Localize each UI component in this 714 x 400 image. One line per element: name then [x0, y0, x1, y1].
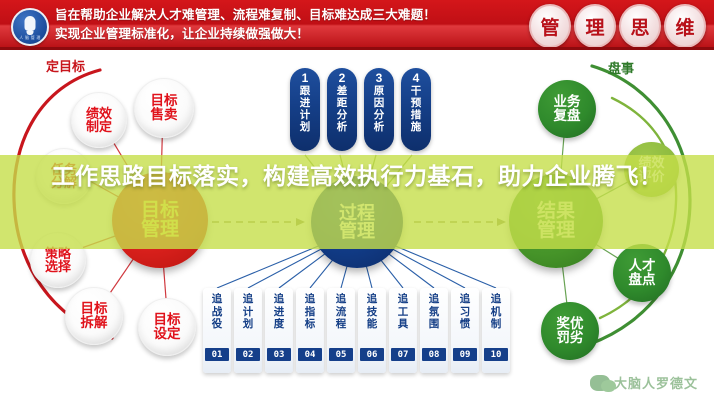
pill-char-1: 原 — [374, 85, 385, 97]
watermark: 大脑人罗德文 — [590, 373, 698, 392]
arrow-head-1 — [296, 218, 305, 226]
card-chase-campaign[interactable]: 追 战 役 01 — [203, 288, 231, 373]
node-performance-evaluation[interactable]: 绩效 评价 — [624, 142, 679, 197]
lightbulb-logo-icon: 人 脑 管 理 — [11, 8, 49, 46]
card-char-3: 程 — [336, 318, 347, 331]
card-char-1: 追 — [336, 293, 347, 306]
pill-char-2: 预 — [411, 97, 422, 109]
node-label-top: 目标 — [151, 94, 178, 108]
card-chase-tools[interactable]: 追 工 具 07 — [389, 288, 417, 373]
node-business-review[interactable]: 业务 复盘 — [538, 80, 596, 138]
card-number: 09 — [453, 348, 477, 361]
node-strategy-choice[interactable]: 策略 选择 — [30, 232, 86, 288]
node-goal-decomposition[interactable]: 目标 拆解 — [65, 287, 123, 345]
card-char-2: 习 — [460, 306, 471, 319]
card-number: 06 — [360, 348, 384, 361]
card-chase-progress[interactable]: 追 进 度 03 — [265, 288, 293, 373]
diagram-area: 定目标 盘事 绩效 制定 目标 售卖 任务 分解 策略 选择 目标 拆解 目标 … — [0, 50, 714, 400]
header-line-2: 实现企业管理标准化，让企业持续做强做大！ — [55, 25, 525, 44]
card-chase-plan[interactable]: 追 计 划 02 — [234, 288, 262, 373]
pill-char-1: 跟 — [300, 85, 311, 97]
node-label-top: 奖优 — [557, 317, 584, 331]
hub-result-management[interactable]: 结果 管理 — [509, 174, 603, 268]
card-char-2: 进 — [274, 306, 285, 319]
pill-number: 4 — [413, 72, 420, 85]
card-char-3: 能 — [367, 318, 378, 331]
card-char-2: 计 — [243, 306, 254, 319]
pill-number: 2 — [339, 72, 346, 85]
pill-char-3: 分 — [337, 109, 348, 121]
card-char-3: 具 — [398, 318, 409, 331]
card-chase-skills[interactable]: 追 技 能 06 — [358, 288, 386, 373]
pill-char-4: 析 — [337, 121, 348, 133]
pill-char-1: 干 — [411, 85, 422, 97]
pill-char-3: 计 — [300, 109, 311, 121]
card-char-3: 役 — [212, 318, 223, 331]
bulb-glyph — [25, 16, 36, 31]
hub-label-bottom: 管理 — [141, 220, 179, 239]
node-label-bottom: 盘点 — [629, 273, 656, 287]
pill-char-2: 进 — [300, 97, 311, 109]
hub-label-bottom: 管理 — [339, 222, 375, 240]
card-char-1: 追 — [212, 293, 223, 306]
card-char-3: 划 — [243, 318, 254, 331]
node-label-top: 人才 — [629, 259, 656, 273]
node-label-bottom: 制定 — [86, 120, 112, 133]
card-char-3: 惯 — [460, 318, 471, 331]
card-number: 07 — [391, 348, 415, 361]
card-char-2: 氛 — [429, 306, 440, 319]
card-char-1: 追 — [367, 293, 378, 306]
infographic-canvas: 人 脑 管 理 旨在帮助企业解决人才难管理、流程难复制、目标难达成三大难题！ 实… — [0, 0, 714, 400]
card-chase-mechanism[interactable]: 追 机 制 10 — [482, 288, 510, 373]
header-badge-4: 维 — [664, 4, 706, 48]
node-label-top: 目标 — [81, 302, 108, 316]
card-chase-atmosphere[interactable]: 追 氛 围 08 — [420, 288, 448, 373]
node-label-bottom: 评价 — [638, 170, 664, 183]
node-label-bottom: 拆解 — [81, 316, 108, 330]
pill-char-4: 析 — [374, 121, 385, 133]
node-label-bottom: 售卖 — [151, 108, 178, 122]
card-number: 10 — [484, 348, 508, 361]
card-char-3: 标 — [305, 318, 316, 331]
node-label-top: 业务 — [554, 95, 581, 109]
node-label-bottom: 罚劣 — [557, 331, 584, 345]
left-arc-label: 定目标 — [46, 56, 85, 75]
card-number: 08 — [422, 348, 446, 361]
node-label-top: 绩效 — [86, 107, 112, 120]
card-char-2: 机 — [491, 306, 502, 319]
card-char-1: 追 — [243, 293, 254, 306]
pill-follow-up-plan[interactable]: 1 跟 进 计 划 — [290, 68, 320, 151]
card-number: 01 — [205, 348, 229, 361]
pill-gap-analysis[interactable]: 2 差 距 分 析 — [327, 68, 357, 151]
node-goal-setting[interactable]: 目标 设定 — [138, 298, 196, 356]
pill-number: 3 — [376, 72, 383, 85]
card-char-1: 追 — [274, 293, 285, 306]
card-char-2: 指 — [305, 306, 316, 319]
card-char-1: 追 — [429, 293, 440, 306]
pill-char-1: 差 — [337, 85, 348, 97]
node-goal-selling[interactable]: 目标 售卖 — [134, 78, 194, 138]
node-task-breakdown[interactable]: 任务 分解 — [36, 148, 92, 204]
node-label-top: 绩效 — [638, 156, 664, 169]
header-line-1: 旨在帮助企业解决人才难管理、流程难复制、目标难达成三大难题！ — [55, 6, 525, 25]
node-performance-setting[interactable]: 绩效 制定 — [71, 92, 127, 148]
pill-char-3: 分 — [374, 109, 385, 121]
hub-goal-management[interactable]: 目标 管理 — [112, 172, 208, 268]
node-label-top: 目标 — [154, 313, 181, 327]
header-badge-2: 理 — [574, 4, 616, 48]
node-label-top: 策略 — [45, 247, 71, 260]
card-char-2: 工 — [398, 306, 409, 319]
hub-label-bottom: 管理 — [537, 221, 575, 240]
pill-char-3: 措 — [411, 109, 422, 121]
card-chase-process[interactable]: 追 流 程 05 — [327, 288, 355, 373]
card-number: 02 — [236, 348, 260, 361]
card-char-1: 追 — [460, 293, 471, 306]
logo-caption: 人 脑 管 理 — [13, 35, 47, 41]
header-badge-1: 管 — [529, 4, 571, 48]
header-badge-3: 思 — [619, 4, 661, 48]
pill-intervention-measures[interactable]: 4 干 预 措 施 — [401, 68, 431, 151]
node-label-bottom: 复盘 — [554, 109, 581, 123]
node-label-bottom: 选择 — [45, 260, 71, 273]
card-char-2: 技 — [367, 306, 378, 319]
node-reward-penalty[interactable]: 奖优 罚劣 — [541, 302, 599, 360]
hub-process-management[interactable]: 过程 管理 — [311, 176, 403, 268]
wechat-icon — [590, 375, 610, 391]
card-char-3: 围 — [429, 318, 440, 331]
node-talent-inventory[interactable]: 人才 盘点 — [613, 244, 671, 302]
arrow-head-2 — [497, 218, 506, 226]
header-banner: 人 脑 管 理 旨在帮助企业解决人才难管理、流程难复制、目标难达成三大难题！ 实… — [0, 0, 714, 50]
pill-char-2: 距 — [337, 97, 348, 109]
card-char-3: 制 — [491, 318, 502, 331]
card-char-2: 流 — [336, 306, 347, 319]
card-char-1: 追 — [491, 293, 502, 306]
hub-label-top: 过程 — [339, 204, 375, 222]
card-chase-habits[interactable]: 追 习 惯 09 — [451, 288, 479, 373]
node-label-bottom: 设定 — [154, 327, 181, 341]
pill-char-2: 因 — [374, 97, 385, 109]
card-char-1: 追 — [305, 293, 316, 306]
pill-char-4: 施 — [411, 121, 422, 133]
right-arc-label: 盘事 — [608, 58, 634, 77]
pill-char-4: 划 — [300, 121, 311, 133]
card-number: 05 — [329, 348, 353, 361]
card-number: 04 — [298, 348, 322, 361]
hub-label-top: 目标 — [141, 201, 179, 220]
header-text-block: 旨在帮助企业解决人才难管理、流程难复制、目标难达成三大难题！ 实现企业管理标准化… — [55, 6, 525, 44]
header-badge-group: 管 理 思 维 — [529, 4, 706, 48]
card-char-2: 战 — [212, 306, 223, 319]
node-label-top: 任务 — [51, 163, 77, 176]
pill-cause-analysis[interactable]: 3 原 因 分 析 — [364, 68, 394, 151]
pill-number: 1 — [302, 72, 309, 85]
node-label-bottom: 分解 — [51, 176, 77, 189]
card-number: 03 — [267, 348, 291, 361]
card-char-1: 追 — [398, 293, 409, 306]
hub-label-top: 结果 — [537, 202, 575, 221]
watermark-text: 大脑人罗德文 — [614, 373, 698, 392]
card-chase-metrics[interactable]: 追 指 标 04 — [296, 288, 324, 373]
card-char-3: 度 — [274, 318, 285, 331]
